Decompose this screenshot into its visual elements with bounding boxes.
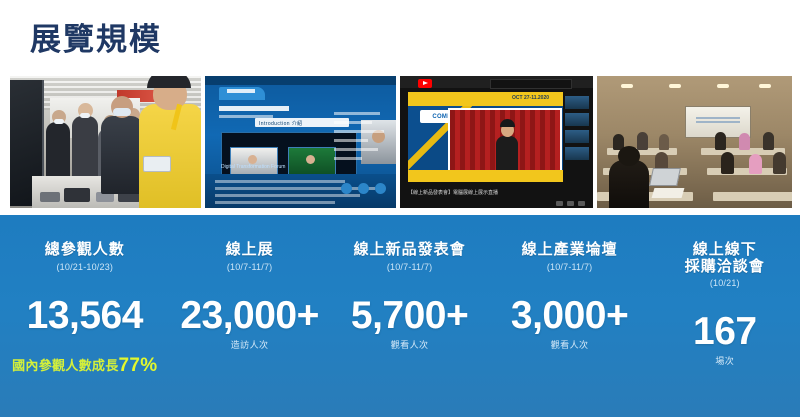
speaker-head — [306, 155, 315, 164]
youtube-play-icon — [418, 79, 432, 88]
site-headline-bar — [219, 106, 289, 111]
broadcast-date: OCT 27-11.2020 — [512, 95, 549, 101]
agenda-list — [334, 112, 390, 172]
stat-value: 167 — [650, 310, 800, 354]
stat-title: 線上新品發表會 — [330, 241, 490, 259]
presenter-figure — [496, 136, 518, 172]
slide-root: 展覽規模 — [0, 0, 800, 417]
ceiling-detail — [597, 76, 792, 102]
video-controls — [556, 201, 585, 206]
stat-procurement-meetings: 線上線下 採購洽談會 (10/21) 167 場次 — [650, 215, 800, 417]
speaker-head — [248, 155, 257, 164]
stat-value: 13,564 — [0, 294, 170, 338]
stat-date-range: (10/21) — [650, 277, 800, 289]
ceiling-light — [717, 84, 729, 88]
growth-percent: 77% — [119, 355, 158, 376]
stat-value: 5,700+ — [330, 294, 490, 338]
stage-lower-banner — [408, 170, 563, 182]
documents — [652, 188, 685, 198]
stat-title: 線上展 — [170, 241, 330, 259]
tab-label-bar — [227, 89, 255, 93]
stat-online-forum: 線上產業埨壇 (10/7-11/7) 3,000+ 觀看人次 — [490, 215, 650, 417]
browser-topbar — [205, 76, 396, 85]
stat-date-range: (10/7-11/7) — [490, 261, 650, 273]
statistics-band: 總參觀人數 (10/21-10/23) 13,564 國內參觀人數成長77% 線… — [0, 215, 800, 417]
foreground-attendee — [609, 160, 649, 208]
stat-unit: 觀看人次 — [330, 339, 490, 351]
exhibition-floor-photo — [10, 76, 201, 208]
handheld-device — [143, 156, 171, 172]
stat-date-range: (10/21-10/23) — [0, 261, 170, 273]
recommended-videos-list — [565, 96, 591, 164]
footer-icon — [375, 183, 386, 194]
stat-unit: 場次 — [650, 355, 800, 367]
footer-icon — [358, 183, 369, 194]
stat-value: 3,000+ — [490, 294, 650, 338]
stat-unit: 造訪人次 — [170, 339, 330, 351]
stat-unit: 觀看人次 — [490, 339, 650, 351]
photo-strip: Introduction 介紹 Digital Transformation F… — [10, 76, 792, 208]
growth-badge: 國內參觀人數成長77% — [0, 357, 170, 375]
livestream-stage: OCT 27-11.2020 COMPAL — [408, 92, 563, 182]
ceiling-light — [759, 84, 771, 88]
growth-label: 國內參觀人數成長 — [12, 358, 118, 373]
face-mask — [54, 119, 64, 124]
online-expo-photo: Introduction 介紹 Digital Transformation F… — [205, 76, 396, 208]
visitor-dark-jacket — [101, 116, 143, 194]
stat-title: 線上產業埨壇 — [490, 241, 650, 259]
stat-title: 總參觀人數 — [0, 241, 170, 259]
ceiling-light — [621, 84, 633, 88]
video-title-caption: 【線上新品發表會】電腦展線上展示直播 — [408, 189, 498, 196]
stat-date-range: (10/7-11/7) — [170, 261, 330, 273]
footer-icon-row — [341, 183, 386, 194]
stat-online-expo: 線上展 (10/7-11/7) 23,000+ 造訪人次 — [170, 215, 330, 417]
intro-label: Introduction 介紹 — [259, 120, 303, 127]
livestream-video-photo: OCT 27-11.2020 COMPAL 【線上新品發表會】電腦展線上展示直播 — [400, 76, 593, 208]
procurement-meeting-photo — [597, 76, 792, 208]
face-mask — [80, 113, 90, 118]
video-search-field — [490, 79, 572, 89]
stat-online-launch: 線上新品發表會 (10/7-11/7) 5,700+ 觀看人次 — [330, 215, 490, 417]
stat-title: 線上線下 採購洽談會 — [650, 241, 800, 275]
footer-icon — [341, 183, 352, 194]
page-title: 展覽規模 — [30, 20, 162, 60]
stage-banner: OCT 27-11.2020 — [408, 92, 563, 106]
red-curtain-backdrop — [448, 108, 562, 174]
ceiling-light — [669, 84, 681, 88]
stat-value: 23,000+ — [170, 294, 330, 338]
stat-total-visitors: 總參觀人數 (10/21-10/23) 13,564 國內參觀人數成長77% — [0, 215, 170, 417]
stat-date-range: (10/7-11/7) — [330, 261, 490, 273]
laptop — [649, 168, 681, 186]
stat-unit — [0, 339, 170, 351]
video-site-topbar — [400, 76, 593, 88]
expo-caption: Digital Transformation Forum — [221, 164, 285, 170]
